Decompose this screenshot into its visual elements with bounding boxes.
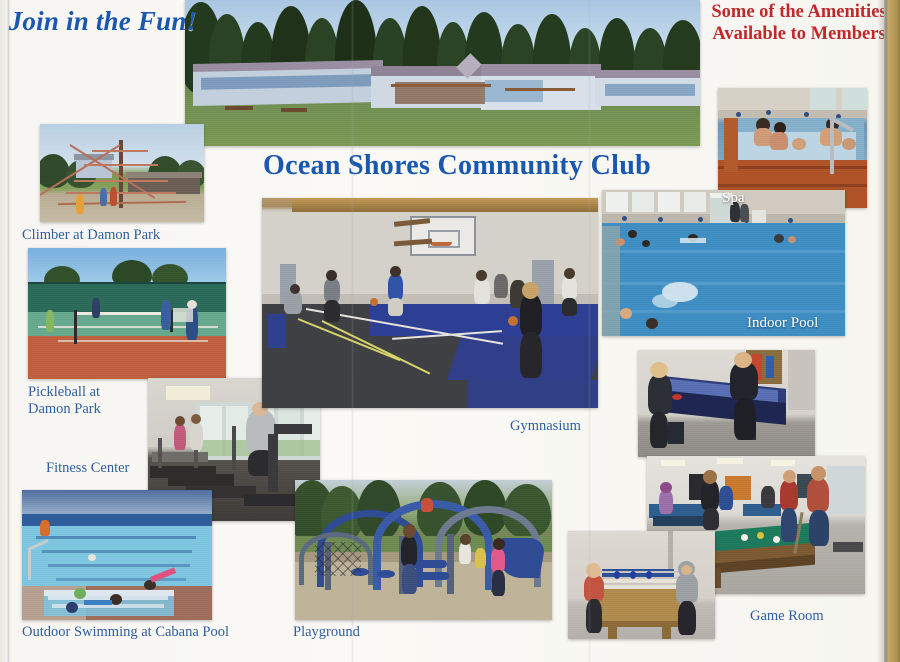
paper-fold-center [351,0,354,662]
brochure-page: Join in the Fun! Some of the Amenities A… [0,0,900,662]
scan-edge-shadow [877,0,884,662]
paper-fold-left [7,0,10,662]
scan-paper-edge [884,0,900,662]
caption-playground: Playground [293,624,433,641]
headline-amenities: Some of the Amenities Available to Membe… [706,2,892,46]
page-title: Ocean Shores Community Club [222,150,692,182]
caption-game-room: Game Room [750,608,880,625]
clubhouse-exterior-photo [185,0,700,146]
headline-join-in-the-fun: Join in the Fun! [8,6,198,36]
caption-outdoor-pool: Outdoor Swimming at Cabana Pool [22,624,302,641]
caption-indoor-pool: Indoor Pool [747,315,857,332]
caption-pickleball: Pickleball at Damon Park [28,384,178,417]
gymnasium-photo [262,198,598,408]
air-hockey-table-photo [638,350,815,457]
caption-gymnasium: Gymnasium [510,418,640,435]
playground-structure-photo [295,480,552,620]
outdoor-cabana-pool-photo [22,490,212,620]
caption-fitness-center: Fitness Center [46,460,186,477]
climber-photo [40,124,204,222]
paper-fold-right [588,0,591,662]
caption-climber: Climber at Damon Park [22,227,237,244]
caption-spa: Spa [722,190,792,207]
pickleball-court-photo [28,248,226,379]
